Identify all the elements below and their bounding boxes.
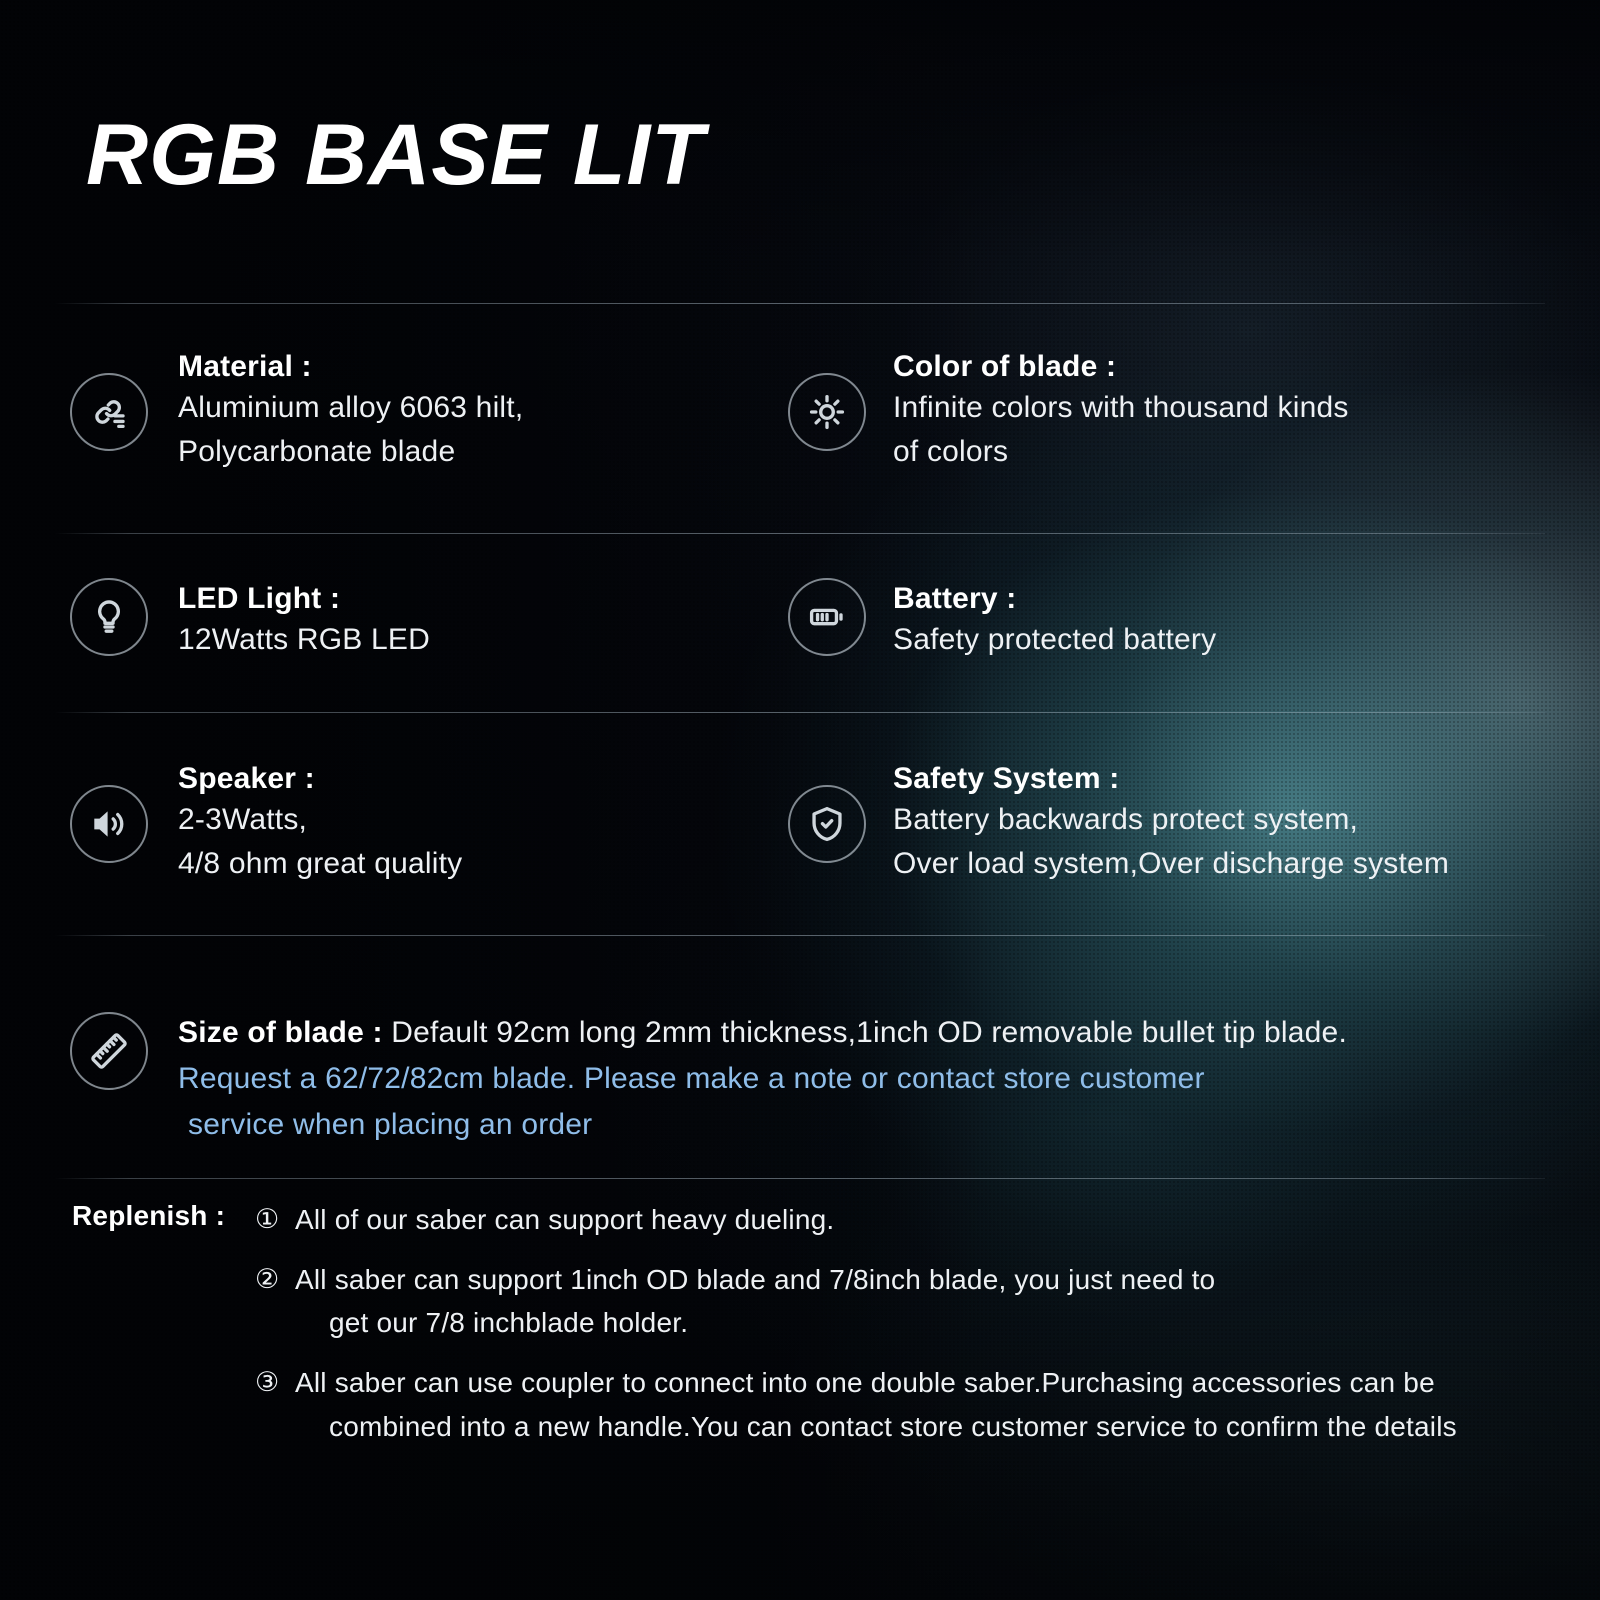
feature-line: 4/8 ohm great quality (178, 842, 758, 886)
list-item: ③ All saber can use coupler to connect i… (255, 1361, 1575, 1448)
feature-label: Battery : (893, 580, 1573, 618)
size-of-blade-note-line-2: service when placing an order (178, 1103, 1578, 1147)
light-bulb-icon (70, 578, 148, 656)
battery-icon (788, 578, 866, 656)
ruler-icon (70, 1012, 148, 1090)
feature-label: Safety System : (893, 760, 1593, 798)
size-of-blade-block: Size of blade : Default 92cm long 2mm th… (178, 1012, 1578, 1147)
feature-color-of-blade: Color of blade : Infinite colors with th… (893, 348, 1573, 474)
content-layer: RGB BASE LIT Material : Aluminium alloy … (0, 0, 1600, 1600)
size-of-blade-note-line-1: Request a 62/72/82cm blade. Please make … (178, 1057, 1578, 1101)
page-title: RGB BASE LIT (86, 112, 705, 198)
list-item: ① All of our saber can support heavy due… (255, 1198, 1575, 1242)
feature-line: 2-3Watts, (178, 798, 758, 842)
divider-2 (55, 533, 1545, 534)
feature-label: Color of blade : (893, 348, 1573, 386)
feature-line: of colors (893, 430, 1573, 474)
list-item-number: ② (255, 1258, 289, 1300)
list-item: ② All saber can support 1inch OD blade a… (255, 1258, 1575, 1345)
feature-line: Over load system,Over discharge system (893, 842, 1593, 886)
list-item-text: All of our saber can support heavy dueli… (289, 1198, 1575, 1242)
feature-line: Safety protected battery (893, 618, 1573, 662)
product-spec-page: RGB BASE LIT Material : Aluminium alloy … (0, 0, 1600, 1600)
feature-label: Speaker : (178, 760, 758, 798)
feature-line: Polycarbonate blade (178, 430, 758, 474)
list-item-line: All of our saber can support heavy dueli… (295, 1204, 834, 1235)
divider-5 (55, 1178, 1545, 1179)
size-of-blade-label: Size of blade : (178, 1016, 383, 1049)
size-of-blade-value: Default 92cm long 2mm thickness,1inch OD… (391, 1016, 1347, 1049)
brightness-sun-icon (788, 373, 866, 451)
speaker-icon (70, 785, 148, 863)
list-item-line: All saber can support 1inch OD blade and… (295, 1264, 1215, 1295)
list-item-number: ③ (255, 1361, 289, 1403)
list-item-line: All saber can use coupler to connect int… (295, 1367, 1435, 1398)
size-of-blade-line: Size of blade : Default 92cm long 2mm th… (178, 1012, 1578, 1055)
feature-label: Material : (178, 348, 758, 386)
feature-speaker: Speaker : 2-3Watts, 4/8 ohm great qualit… (178, 760, 758, 886)
list-item-line: get our 7/8 inchblade holder. (295, 1301, 1575, 1345)
link-material-icon (70, 373, 148, 451)
shield-check-icon (788, 785, 866, 863)
feature-line: 12Watts RGB LED (178, 618, 758, 662)
replenish-label: Replenish : (72, 1200, 225, 1232)
feature-led-light: LED Light : 12Watts RGB LED (178, 580, 758, 662)
divider-4 (55, 935, 1545, 936)
feature-line: Battery backwards protect system, (893, 798, 1593, 842)
replenish-list: ① All of our saber can support heavy due… (255, 1198, 1575, 1464)
feature-line: Infinite colors with thousand kinds (893, 386, 1573, 430)
feature-battery: Battery : Safety protected battery (893, 580, 1573, 662)
feature-line: Aluminium alloy 6063 hilt, (178, 386, 758, 430)
list-item-text: All saber can use coupler to connect int… (289, 1361, 1575, 1448)
list-item-text: All saber can support 1inch OD blade and… (289, 1258, 1575, 1345)
feature-material: Material : Aluminium alloy 6063 hilt, Po… (178, 348, 758, 474)
divider-3 (55, 712, 1545, 713)
list-item-line: combined into a new handle.You can conta… (295, 1405, 1575, 1449)
divider-1 (55, 303, 1545, 304)
feature-safety-system: Safety System : Battery backwards protec… (893, 760, 1593, 886)
feature-label: LED Light : (178, 580, 758, 618)
list-item-number: ① (255, 1198, 289, 1240)
